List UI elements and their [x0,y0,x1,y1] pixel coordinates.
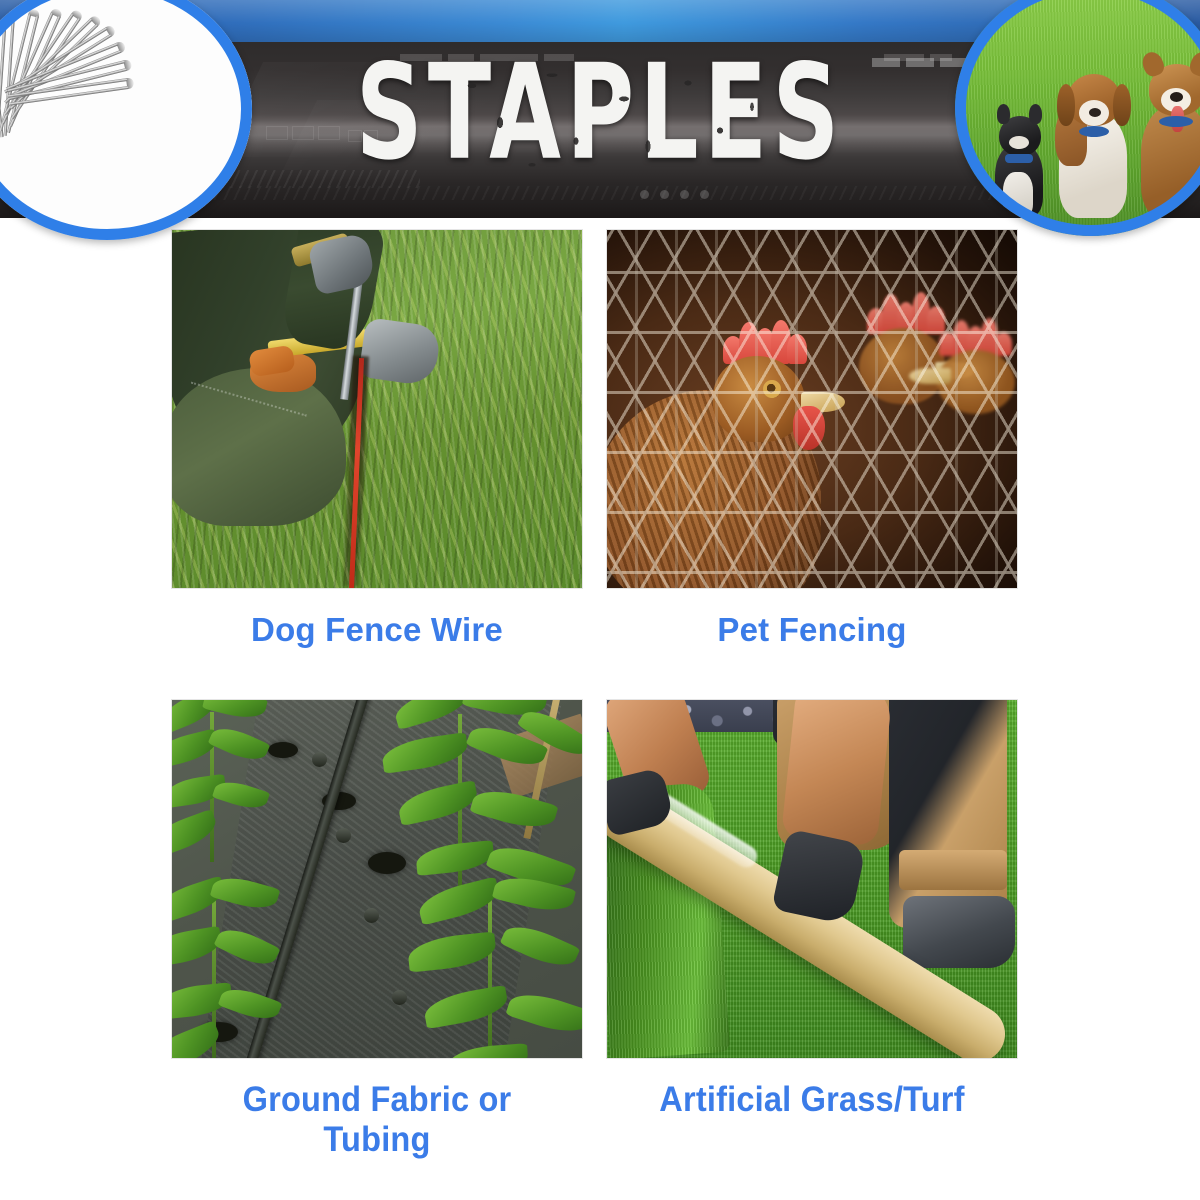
tech-dot [680,190,689,199]
page-title: STAPLES [356,48,845,180]
tech-dot [640,190,649,199]
grid-cell-artificial-turf: Artificial Grass/Turf [607,700,1017,1120]
worker-leg-right [889,700,1007,928]
worker-boot [903,896,1015,968]
tech-dot [700,190,709,199]
grid-cell-dog-fence-wire: Dog Fence Wire [172,230,582,650]
caption-dog-fence-wire: Dog Fence Wire [172,610,582,650]
grid-row: Ground Fabric or Tubing Artificial [0,700,1200,1170]
tomato-plant [408,880,582,1058]
grid-cell-ground-fabric: Ground Fabric or Tubing [172,700,582,1160]
worker-arm-right [781,700,893,847]
artificial-turf-photo [607,700,1017,1058]
grid-cell-pet-fencing: Pet Fencing [607,230,1017,650]
tech-dot [660,190,669,199]
drip-emitter [336,828,351,843]
tomato-plant [172,876,324,1058]
pet-fencing-photo [607,230,1017,588]
pants-cuff [899,850,1007,890]
worker-knee [172,368,346,526]
dog-fence-wire-photo [172,230,582,588]
ground-fabric-tubing-photo [172,700,582,1058]
drip-emitter [392,990,407,1005]
chicken-wire-mesh-vertical [607,230,1017,588]
caption-ground-fabric: Ground Fabric or Tubing [186,1080,567,1160]
tomato-plant [172,700,308,882]
grid-row: Dog Fence Wire [0,230,1200,700]
caption-artificial-turf: Artificial Grass/Turf [621,1080,1002,1120]
drip-emitter [312,752,327,767]
product-use-grid: Dog Fence Wire [0,230,1200,1170]
caption-pet-fencing: Pet Fencing [607,610,1017,650]
